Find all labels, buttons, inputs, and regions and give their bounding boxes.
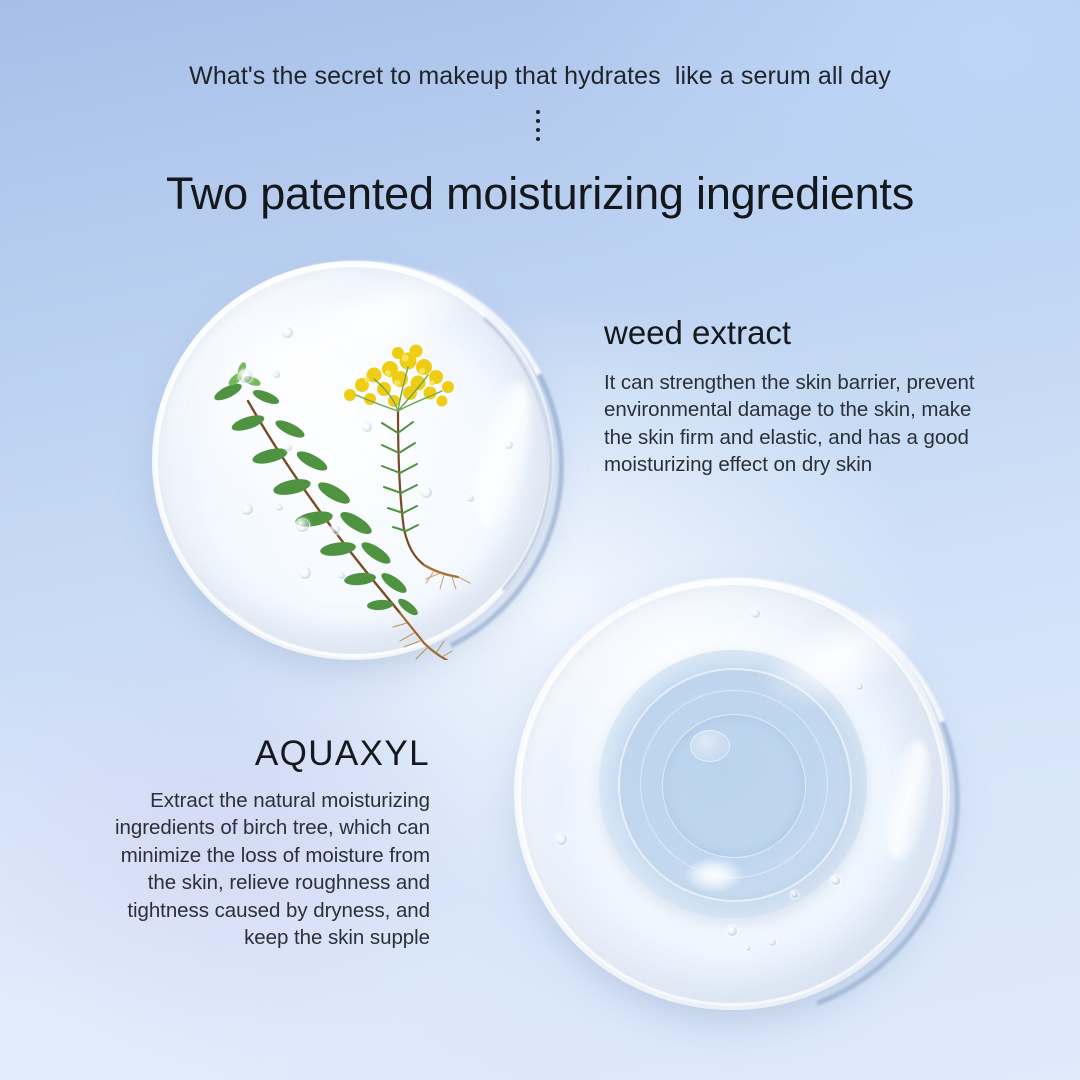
bubble	[420, 486, 433, 499]
bubble	[295, 518, 310, 533]
separator-dot	[536, 128, 540, 132]
bubble	[361, 421, 373, 433]
bubble	[790, 890, 799, 899]
page-title: Two patented moisturizing ingredients	[0, 168, 1080, 220]
bubble	[298, 566, 312, 580]
bubble	[240, 502, 254, 516]
droplet-right-core-ring-3	[662, 714, 806, 858]
ingredient-body-weed: It can strengthen the skin barrier, prev…	[604, 369, 1000, 479]
bubble	[750, 608, 761, 619]
ingredient-aquaxyl: AQUAXYL Extract the natural moisturizing…	[110, 736, 430, 952]
droplet-right-core-bubble	[690, 730, 730, 762]
bubble	[281, 326, 294, 339]
bubble	[830, 875, 841, 886]
bubble	[555, 833, 568, 846]
bubble	[272, 370, 281, 379]
ingredient-body-aquaxyl: Extract the natural moisturizing ingredi…	[110, 787, 430, 952]
droplet-right-core-flare	[686, 858, 742, 892]
ingredient-weed-extract: weed extract It can strengthen the skin …	[604, 316, 1000, 479]
bubble	[768, 938, 777, 947]
bubble	[238, 369, 253, 384]
separator-dot	[536, 110, 540, 114]
product-infographic-canvas: What's the secret to makeup that hydrate…	[0, 0, 1080, 1080]
separator-dot	[536, 137, 540, 141]
separator-dot	[536, 119, 540, 123]
subtitle-question: What's the secret to makeup that hydrate…	[0, 62, 1080, 91]
bubble	[745, 945, 752, 952]
herb-illustration	[152, 261, 554, 660]
separator-dots	[531, 110, 545, 141]
bubble	[504, 440, 514, 450]
bubble	[330, 524, 341, 535]
bubble	[285, 444, 293, 452]
bubble	[466, 494, 475, 503]
ingredient-heading-aquaxyl: AQUAXYL	[110, 736, 430, 771]
bubble	[726, 925, 738, 937]
bubble	[275, 503, 284, 512]
bubble	[855, 682, 864, 691]
ingredient-heading-weed: weed extract	[604, 316, 1000, 349]
bubble	[337, 571, 346, 580]
